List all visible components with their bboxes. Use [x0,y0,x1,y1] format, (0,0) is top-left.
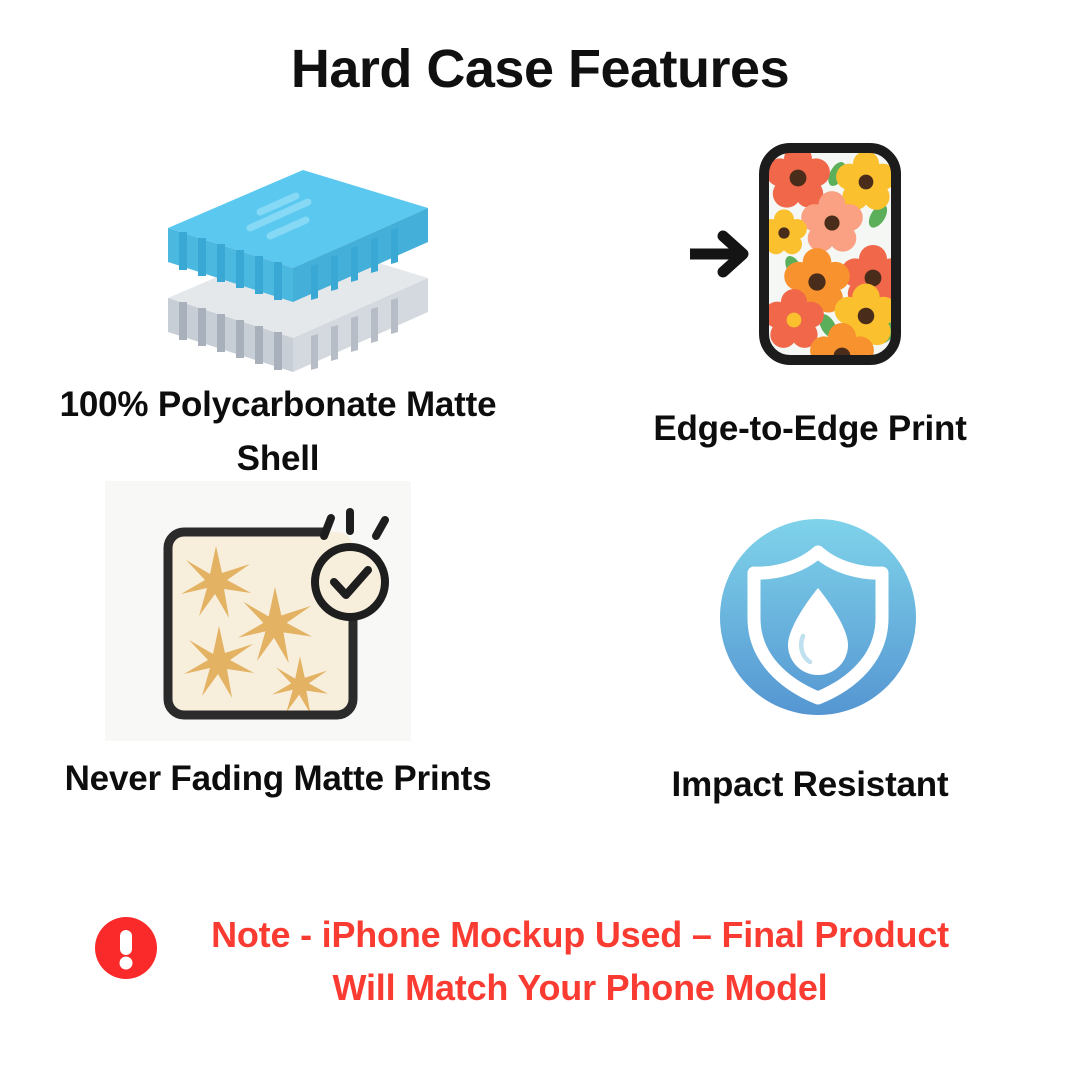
floral-phone-case-icon [560,120,1060,390]
feature-art [28,150,528,370]
feature-label-impact: Impact Resistant [560,758,1060,812]
note-bar: Note - iPhone Mockup Used – Final Produc… [0,908,1080,1015]
exclamation-circle-icon [95,917,157,979]
feature-card-never-fading: Never Fading Matte Prints [28,470,528,745]
arrow-right-icon [690,236,743,272]
feature-card-impact: Impact Resistant [560,500,1060,740]
note-text: Note - iPhone Mockup Used – Final Produc… [175,908,985,1015]
feature-art [560,120,1060,390]
feature-card-polycarbonate: 100% Polycarbonate Matte Shell [28,150,528,370]
feature-label-edge-print: Edge-to-Edge Print [560,402,1060,456]
shield-droplet-icon [560,500,1060,740]
sparkle-square-check-icon [28,470,528,745]
page-title: Hard Case Features [0,38,1080,100]
feature-art [560,500,1060,740]
layered-slabs-icon [28,150,528,370]
feature-label-never-fading: Never Fading Matte Prints [28,752,528,806]
check-badge-icon [315,512,385,617]
feature-art [28,470,528,745]
feature-infographic-page: Hard Case Features [0,0,1080,1080]
feature-card-edge-print: Edge-to-Edge Print [560,120,1060,390]
